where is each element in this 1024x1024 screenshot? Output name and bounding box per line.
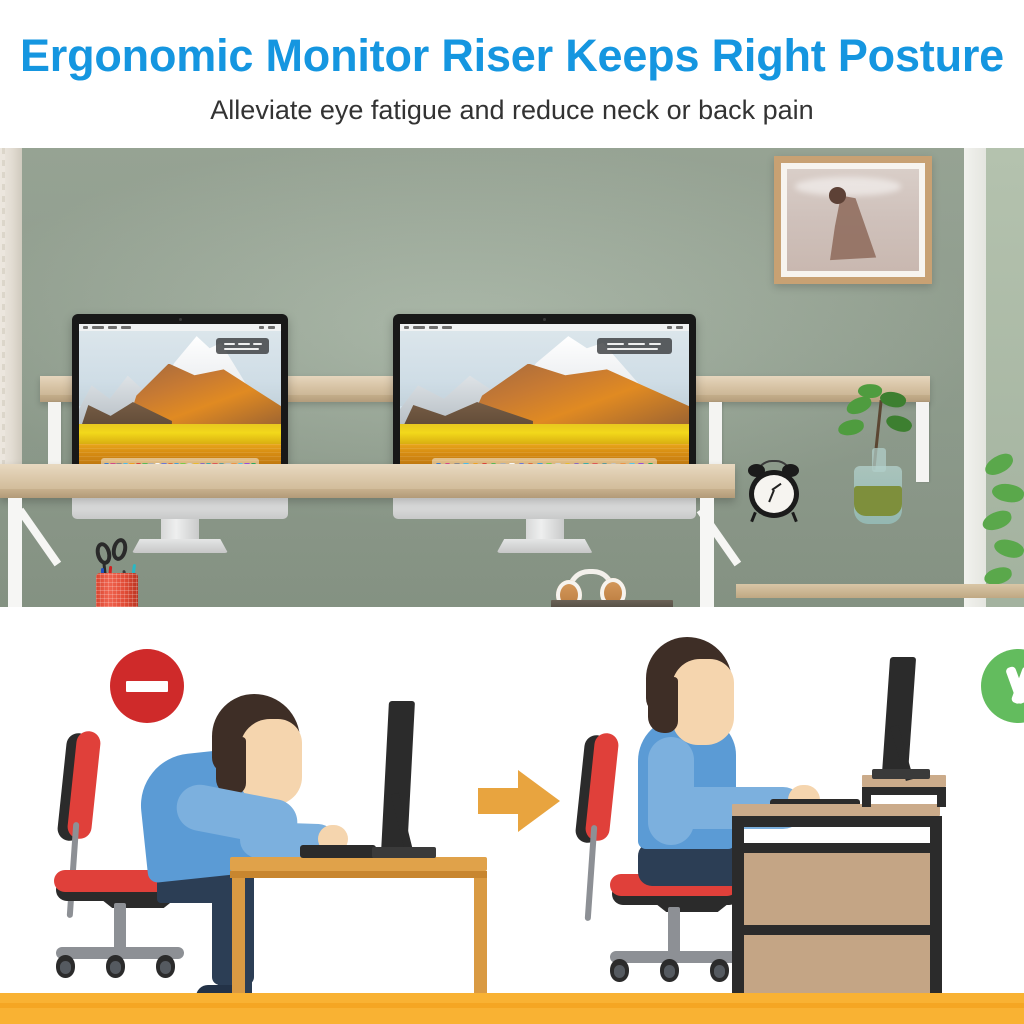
riser-leg-right	[916, 402, 929, 482]
menu-bar-2	[400, 324, 689, 331]
person-head	[240, 719, 302, 805]
riser-desk-drawer-2	[744, 935, 930, 993]
riser-lower-shelf	[736, 584, 1024, 598]
right-monitor-screen	[400, 324, 689, 476]
riser-desk-divider-1	[732, 843, 942, 853]
alarm-clock	[746, 456, 802, 518]
illus-keyboard-left	[300, 845, 376, 858]
picture-artwork	[787, 169, 919, 271]
chair-caster	[610, 959, 629, 982]
notification-popup-2	[597, 338, 672, 355]
person-head	[672, 659, 734, 745]
webcam-icon-2	[543, 318, 546, 321]
chair-caster	[56, 955, 75, 978]
vase-band	[854, 486, 902, 516]
v-mark	[1001, 669, 1024, 703]
plain-desk-edge	[230, 871, 487, 878]
person-hair-back	[216, 737, 246, 795]
chair-gas-cylinder	[668, 907, 680, 955]
menu-bar	[79, 324, 281, 331]
plain-desk-surface	[230, 857, 487, 871]
left-monitor-screen	[79, 324, 281, 476]
book-top	[551, 600, 673, 607]
riser-desk-surface	[732, 804, 940, 816]
no-sign-icon	[110, 649, 184, 723]
riser-desk-drawer-1	[744, 853, 930, 925]
chair-caster	[156, 955, 175, 978]
notification-popup	[216, 338, 269, 355]
curtain	[0, 148, 22, 478]
webcam-icon	[179, 318, 182, 321]
artwork-figure	[824, 196, 885, 263]
artwork-figure-head	[829, 187, 846, 203]
plain-desk-leg-left	[232, 878, 245, 1005]
artwork-cloud	[795, 177, 901, 195]
riser-platform-edge	[862, 787, 946, 795]
posture-comparison-illustration	[0, 607, 1024, 1024]
product-photo: THRIFT EPSON	[0, 148, 1024, 607]
page-subtitle: Alleviate eye fatigue and reduce neck or…	[0, 93, 1024, 127]
illus-monitor-left	[381, 701, 415, 853]
chair-base-plate	[646, 896, 738, 912]
right-monitor-bezel	[393, 314, 696, 485]
chair-caster	[106, 955, 125, 978]
riser-desk-divider-2	[732, 925, 942, 935]
person-hair-back	[648, 677, 678, 733]
minus-bar	[126, 681, 168, 692]
left-monitor-base	[132, 539, 228, 553]
header-banner: Ergonomic Monitor Riser Keeps Right Post…	[0, 0, 1024, 148]
framed-wall-art	[774, 156, 932, 284]
page-title: Ergonomic Monitor Riser Keeps Right Post…	[0, 30, 1024, 82]
riser-platform-leg-left	[862, 787, 871, 807]
illus-monitor-base-left	[372, 847, 436, 858]
chair-caster	[660, 959, 679, 982]
chair-gas-cylinder	[114, 903, 126, 951]
good-posture-scene	[520, 607, 1024, 1024]
check-v-icon	[981, 649, 1024, 723]
illus-monitor-base-right	[872, 769, 930, 779]
plain-desk-leg-right	[474, 878, 487, 1005]
riser-desk-frame-top	[732, 816, 942, 827]
right-monitor-base	[497, 539, 593, 553]
book-stack: THRIFT	[551, 600, 673, 607]
clock-dial	[754, 475, 794, 513]
left-monitor-bezel	[72, 314, 288, 485]
pen-holder	[96, 573, 138, 607]
bad-posture-scene	[0, 607, 520, 1024]
floor-strip	[0, 993, 1024, 1024]
chair-caster	[710, 959, 729, 982]
desk-surface	[0, 464, 735, 498]
riser-platform-leg-right	[937, 787, 946, 807]
